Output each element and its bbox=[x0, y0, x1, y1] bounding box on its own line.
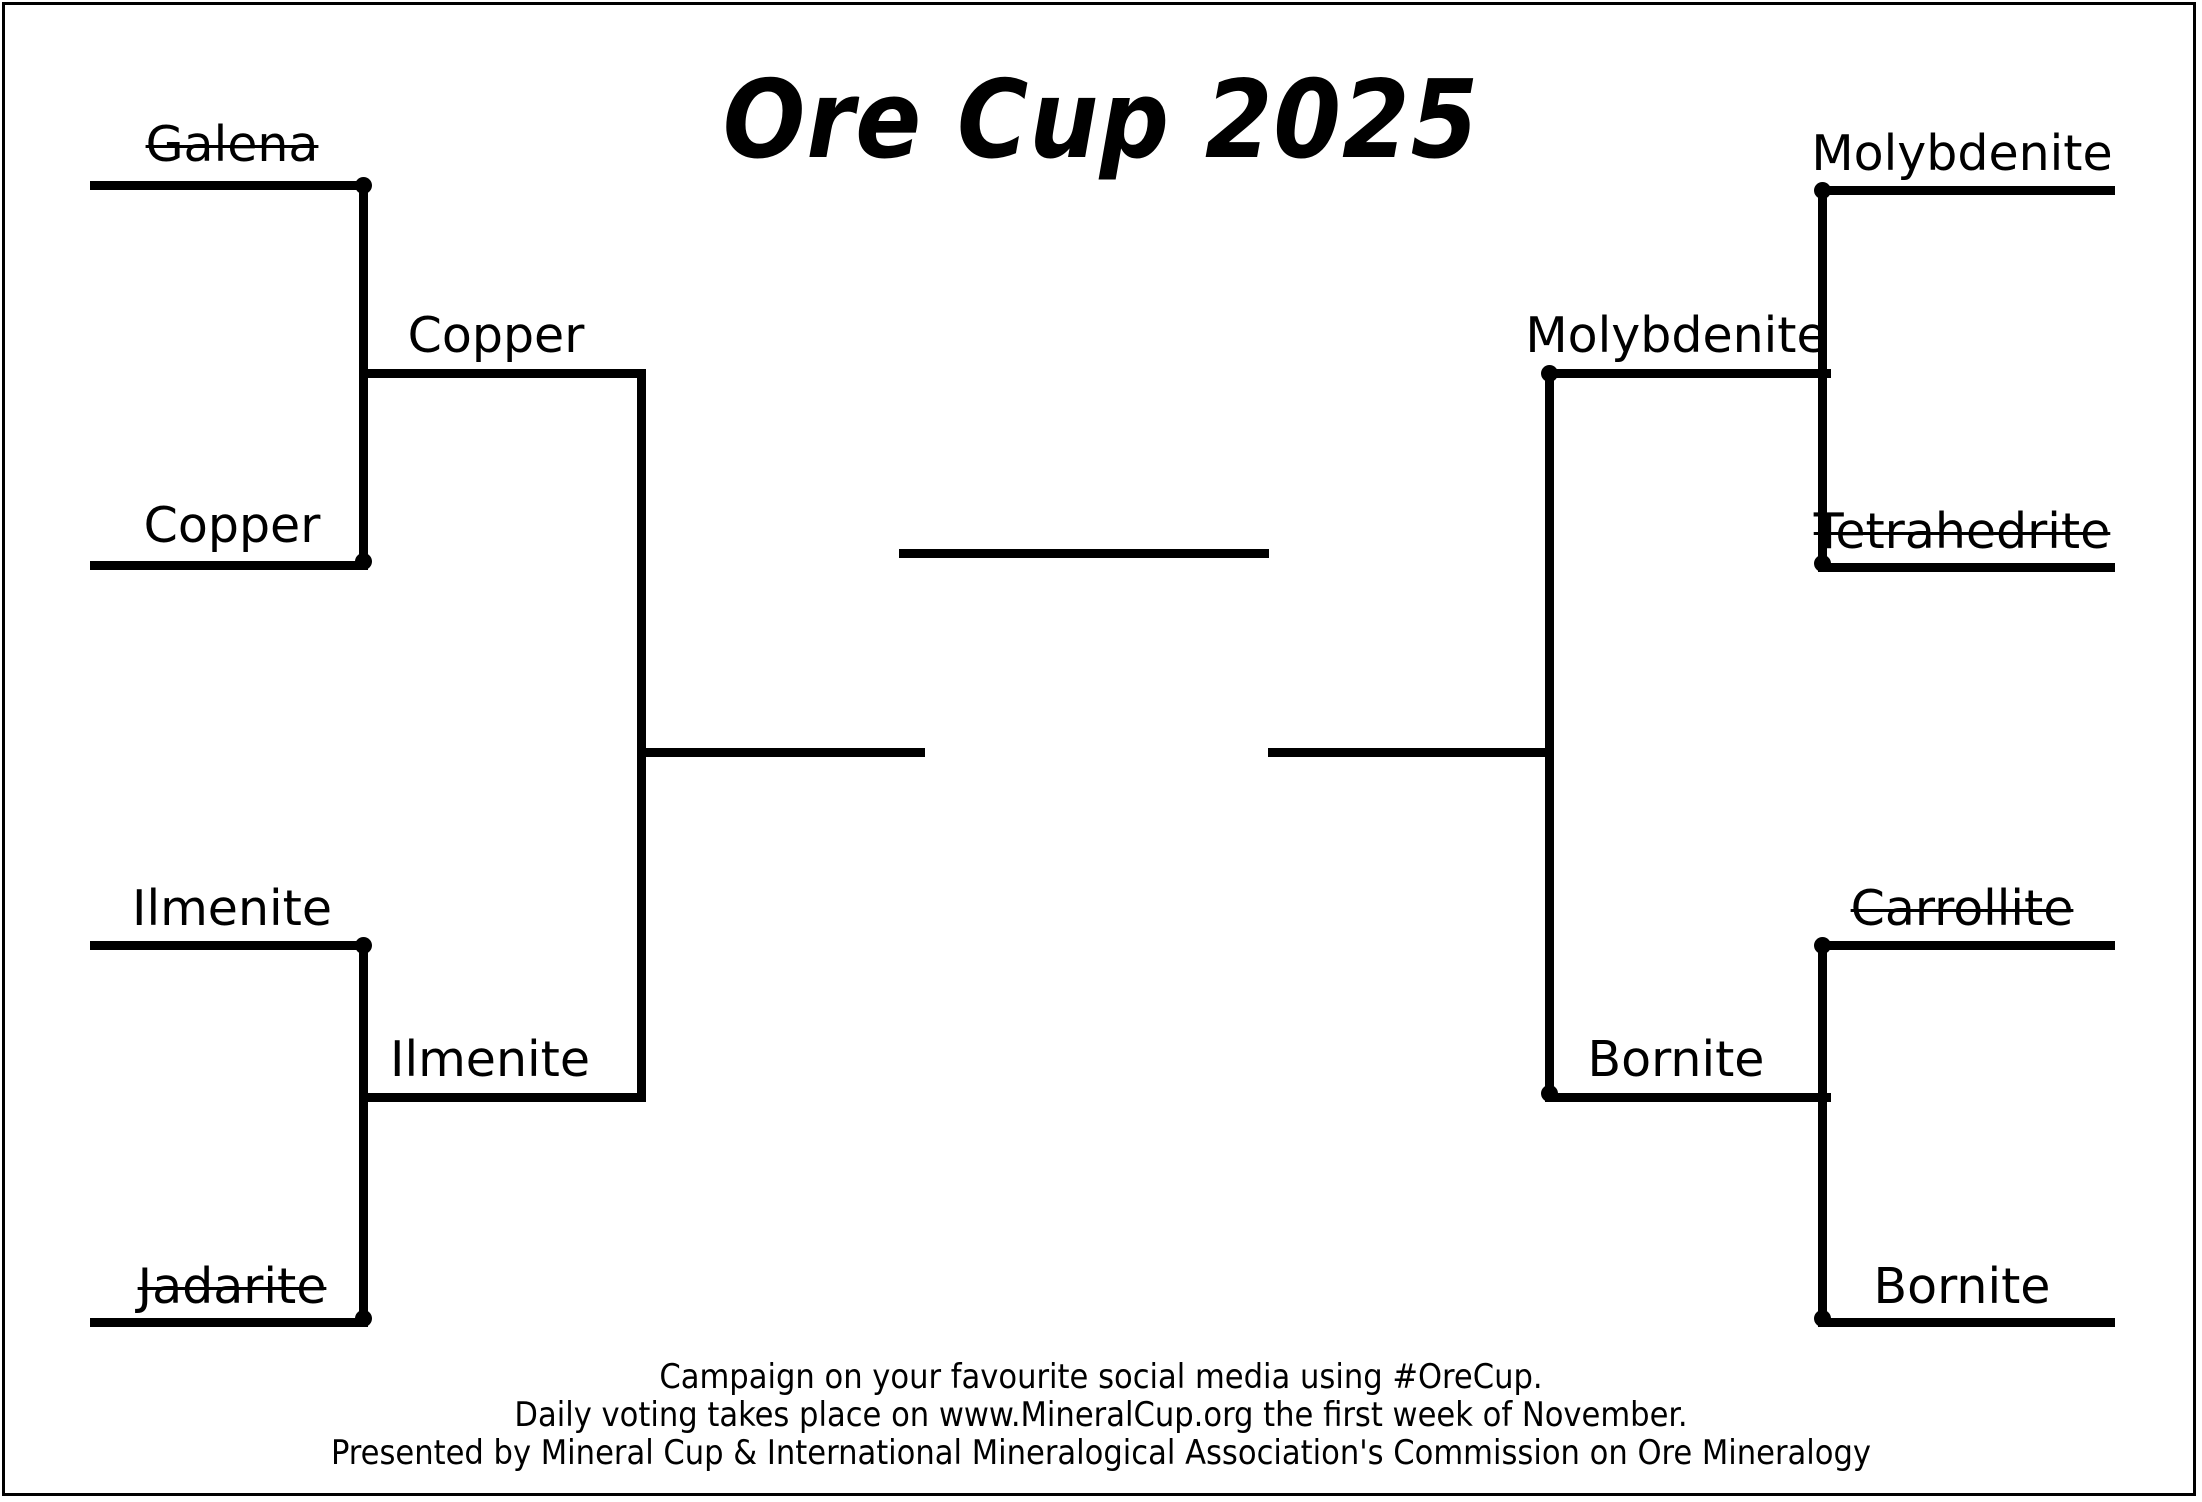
footer: Campaign on your favourite social media … bbox=[0, 1358, 2202, 1472]
bracket-line-left-sf2 bbox=[359, 1093, 646, 1102]
ore-cup-bracket-poster: Ore Cup 2025 Galena Copper Copper Ilmeni… bbox=[0, 0, 2202, 1502]
bracket-connector-left-lower bbox=[359, 941, 368, 1327]
bracket-line-left-final bbox=[637, 748, 925, 757]
bracket-line-right-sf1 bbox=[1545, 369, 1831, 378]
bracket-node-right-sf1 bbox=[1541, 365, 1558, 382]
bracket-entry-left-qf2[interactable]: Copper bbox=[144, 501, 321, 550]
bracket-line-right-qf3 bbox=[1822, 941, 2115, 950]
bracket-line-champion bbox=[899, 549, 1269, 558]
footer-line-2: Daily voting takes place on www.MineralC… bbox=[0, 1396, 2202, 1434]
bracket-node-right-sf2 bbox=[1541, 1085, 1558, 1102]
bracket-entry-right-qf2[interactable]: Tetrahedrite bbox=[1814, 507, 2111, 556]
bracket-connector-right-semis bbox=[1545, 369, 1554, 1102]
bracket-connector-right-upper bbox=[1818, 186, 1827, 572]
bracket-node-right-qf2 bbox=[1814, 555, 1831, 572]
bracket-entry-left-qf4[interactable]: Jadarite bbox=[138, 1262, 327, 1311]
bracket-entry-left-sf2[interactable]: Ilmenite bbox=[390, 1035, 590, 1084]
bracket-node-right-qf1 bbox=[1814, 182, 1831, 199]
bracket-entry-right-sf1[interactable]: Molybdenite bbox=[1525, 311, 1826, 360]
bracket-line-left-qf1 bbox=[90, 181, 368, 190]
bracket-line-right-qf1 bbox=[1822, 186, 2115, 195]
bracket-entry-right-qf3[interactable]: Carrollite bbox=[1851, 884, 2074, 933]
footer-line-1: Campaign on your favourite social media … bbox=[0, 1358, 2202, 1396]
bracket-node-left-qf3 bbox=[355, 937, 372, 954]
bracket-line-left-qf4 bbox=[90, 1318, 368, 1327]
bracket-entry-right-qf1[interactable]: Molybdenite bbox=[1811, 129, 2112, 178]
bracket-connector-left-semis bbox=[637, 369, 646, 1102]
bracket-node-left-qf1 bbox=[355, 177, 372, 194]
bracket-connector-right-lower bbox=[1818, 941, 1827, 1327]
bracket-line-left-qf3 bbox=[90, 941, 368, 950]
bracket-line-left-qf2 bbox=[90, 561, 368, 570]
bracket-entry-left-qf1[interactable]: Galena bbox=[146, 120, 319, 169]
bracket-line-right-sf2 bbox=[1545, 1093, 1831, 1102]
bracket-line-right-qf4 bbox=[1822, 1318, 2115, 1327]
footer-line-3: Presented by Mineral Cup & International… bbox=[0, 1434, 2202, 1472]
bracket-line-right-final bbox=[1268, 748, 1554, 757]
bracket-entry-left-sf1[interactable]: Copper bbox=[408, 311, 585, 360]
bracket-entry-right-sf2[interactable]: Bornite bbox=[1588, 1035, 1765, 1084]
bracket-entry-right-qf4[interactable]: Bornite bbox=[1874, 1262, 2051, 1311]
bracket-entry-left-qf3[interactable]: Ilmenite bbox=[132, 884, 332, 933]
bracket-node-left-qf2 bbox=[355, 553, 372, 570]
bracket-node-right-qf3 bbox=[1814, 937, 1831, 954]
poster-border bbox=[2, 2, 2196, 1496]
bracket-line-left-sf1 bbox=[359, 369, 646, 378]
bracket-node-left-qf4 bbox=[355, 1310, 372, 1327]
bracket-line-right-qf2 bbox=[1822, 563, 2115, 572]
bracket-node-right-qf4 bbox=[1814, 1310, 1831, 1327]
